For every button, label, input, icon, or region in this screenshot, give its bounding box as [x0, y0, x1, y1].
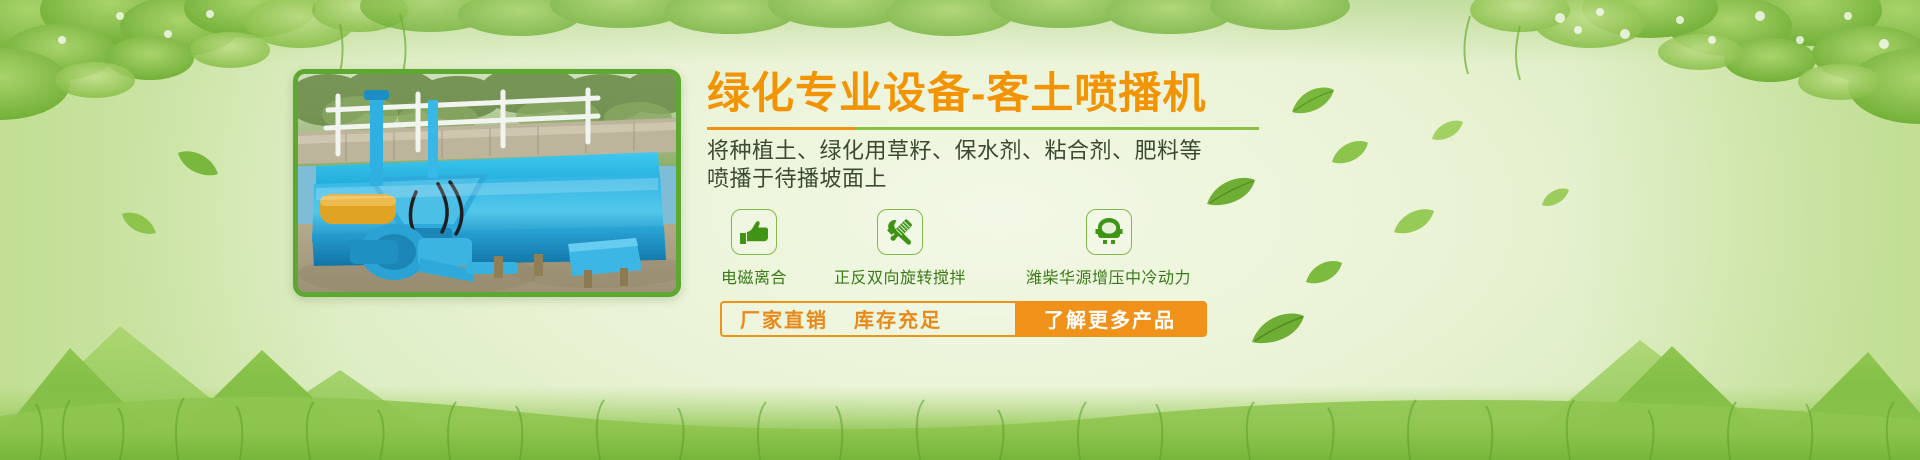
feature-list: 电磁离合: [707, 209, 1767, 288]
learn-more-button[interactable]: 了解更多产品: [1015, 303, 1205, 335]
product-photo-image: [298, 74, 676, 292]
promo-banner: 绿化专业设备-客土喷播机 将种植土、绿化用草籽、保水剂、粘合剂、肥料等 喷播于待…: [0, 0, 1920, 460]
wrench-screwdriver-icon: [885, 217, 915, 247]
grass-decoration: [0, 340, 1920, 460]
leaf-icon: [120, 212, 158, 236]
feature-item-electromagnetic-clutch[interactable]: 电磁离合: [721, 209, 787, 288]
subtitle-line-2: 喷播于待播坡面上: [707, 165, 1767, 193]
page-title: 绿化专业设备-客土喷播机: [707, 72, 1767, 118]
cta-tag-factory-direct: 厂家直销: [740, 304, 828, 333]
feature-item-bidirectional-mixing[interactable]: 正反双向旋转搅拌: [834, 209, 966, 288]
feature-icon-box: [1086, 209, 1132, 255]
cta-tags: 厂家直销 库存充足: [722, 303, 1015, 335]
leaf-icon: [176, 150, 220, 178]
subtitle-line-1: 将种植土、绿化用草籽、保水剂、粘合剂、肥料等: [707, 137, 1767, 165]
feature-icon-box: [877, 209, 923, 255]
title-divider: [707, 127, 1259, 130]
cta-tag-in-stock: 库存充足: [854, 304, 942, 333]
feature-item-weichai-power[interactable]: 潍柴华源增压中冷动力: [1026, 209, 1191, 288]
engine-gear-icon: [1094, 218, 1124, 246]
cta-bar: 厂家直销 库存充足 了解更多产品: [720, 301, 1207, 337]
feature-icon-box: [731, 209, 777, 255]
feature-label: 电磁离合: [721, 264, 787, 288]
feature-label: 正反双向旋转搅拌: [834, 264, 966, 288]
feature-label: 潍柴华源增压中冷动力: [1026, 264, 1191, 288]
thumbs-up-icon: [739, 219, 769, 245]
product-photo: [293, 69, 681, 297]
banner-content: 绿化专业设备-客土喷播机 将种植土、绿化用草籽、保水剂、粘合剂、肥料等 喷播于待…: [707, 72, 1767, 337]
